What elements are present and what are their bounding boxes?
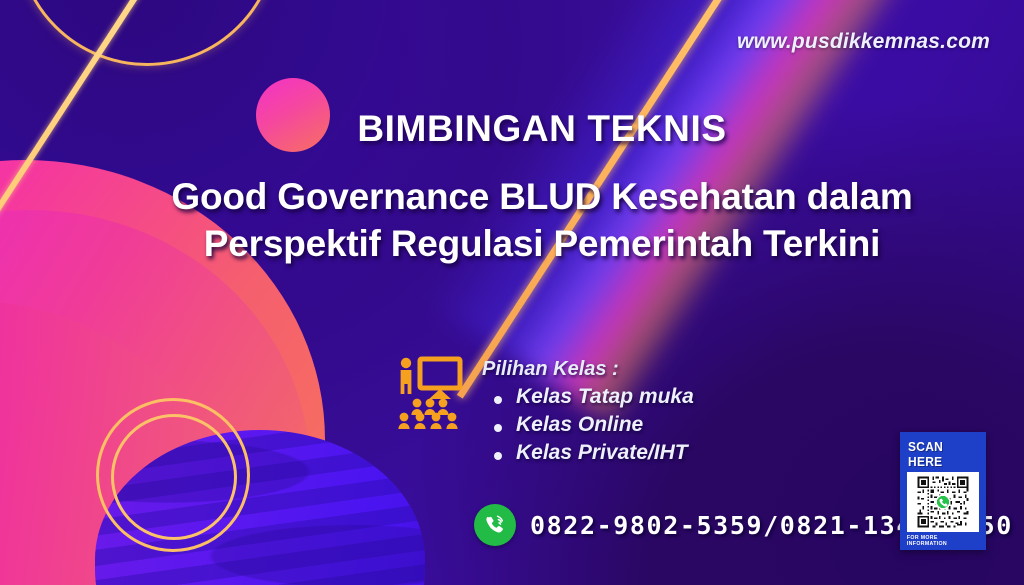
banner-subtitle: Good Governance BLUD Kesehatan dalam Per… [60, 174, 1024, 267]
class-options-block: Pilihan Kelas : Kelas Tatap muka Kelas O… [396, 356, 694, 465]
promo-banner: www.pusdikkemnas.com BIMBINGAN TEKNIS Go… [0, 0, 1024, 585]
presenter-audience-icon [396, 356, 464, 430]
banner-subtitle-line2: Perspektif Regulasi Pemerintah Terkini [60, 221, 1024, 268]
class-option-item: Kelas Tatap muka [482, 385, 694, 409]
class-option-item: Kelas Online [482, 413, 694, 437]
banner-kicker-title: BIMBINGAN TEKNIS [60, 108, 1024, 150]
qr-scan-label: SCAN HERE [908, 439, 978, 469]
whatsapp-phone-icon[interactable] [474, 504, 516, 546]
class-options-list: Kelas Tatap muka Kelas Online Kelas Priv… [482, 385, 694, 465]
qr-footer-label: FOR MORE INFORMATION [907, 535, 979, 547]
qr-code-whatsapp-icon[interactable] [907, 472, 979, 532]
class-text-group: Pilihan Kelas : Kelas Tatap muka Kelas O… [482, 356, 694, 465]
banner-content: www.pusdikkemnas.com BIMBINGAN TEKNIS Go… [0, 0, 1024, 585]
website-url: www.pusdikkemnas.com [737, 30, 990, 54]
banner-subtitle-line1: Good Governance BLUD Kesehatan dalam [60, 174, 1024, 221]
qr-scan-card[interactable]: SCAN HERE [900, 432, 986, 550]
class-option-item: Kelas Private/IHT [482, 441, 694, 465]
class-options-heading: Pilihan Kelas : [482, 358, 694, 381]
title-block: BIMBINGAN TEKNIS Good Governance BLUD Ke… [0, 108, 1024, 267]
